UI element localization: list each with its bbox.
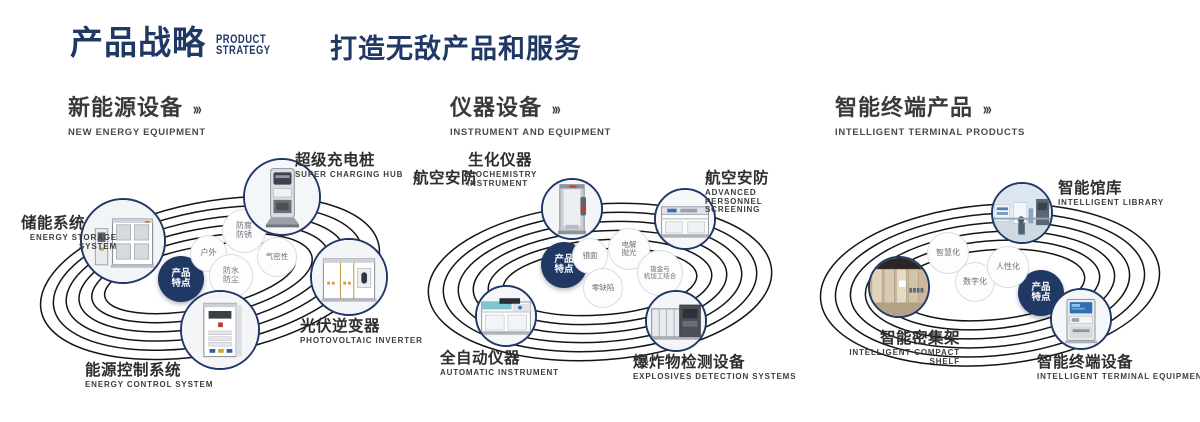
label-cn: 全自动仪器 [440,350,559,366]
inverter-cabinet-icon [312,240,386,314]
label-cn: 爆炸物检测设备 [633,354,796,370]
chevron-right-icon: ››› [552,99,559,119]
section-title-cn: 仪器设备 [450,98,542,120]
label-cn: 航空安防 [705,170,797,186]
feature-label: 零缺陷 [592,284,615,292]
feature-label: 气密性 [266,253,289,261]
cluster-intelligent-terminal: 产品 特点 智慧化 数字化 人性化 [800,150,1200,415]
feature-bubble-humanized: 人性化 [987,246,1029,288]
section-title-cn: 智能终端产品 [835,98,973,120]
label-en: INTELLIGENT COMPACT SHELF [820,349,960,366]
node-automatic-instrument[interactable] [475,285,537,347]
cluster-new-energy: 产品 特点 户外 防腐 防锈 防水 防尘 气密性 [15,150,415,415]
core-line2: 特点 [1031,293,1050,303]
terminal-kiosk-icon [1052,290,1110,348]
label-energy-storage: 储能系统 ENERGY STORAGE SYSTEM [7,215,85,251]
control-cabinet-icon [182,292,258,368]
label-en: EXPLOSIVES DETECTION SYSTEMS [633,373,796,381]
section-title-instrument: 仪器设备››› INSTRUMENT AND EQUIPMENT [450,98,611,138]
headline: 打造无敌产品和服务 [330,36,582,63]
poster-canvas: 产品战略 PRODUCT STRATEGY 打造无敌产品和服务 新能源设备›››… [0,0,1200,422]
label-cn: 储能系统 [7,215,85,231]
feature-label: 人性化 [996,263,1020,272]
label-energy-control-system: 能源控制系统 ENERGY CONTROL SYSTEM [85,362,213,390]
label-en: INTELLIGENT LIBRARY [1058,199,1164,207]
label-cn: 生化仪器 [468,152,532,168]
label-biochemistry-instrument: 生化仪器 BIOCHEMISTRY INSTRUMENT [468,152,532,188]
feature-bubble-airtight: 气密性 [257,237,297,277]
feature-label: 户外 [201,249,217,258]
brand-title-en: PRODUCT STRATEGY [216,35,271,57]
section-title-cn: 新能源设备 [68,98,183,120]
node-intelligent-library[interactable] [991,182,1053,244]
label-super-charging-hub: 超级充电桩 SUPER CHARGING HUB [295,152,403,180]
node-intelligent-terminal-equipment[interactable] [1050,288,1112,350]
node-intelligent-compact-shelf[interactable] [868,256,930,318]
library-room-icon [993,184,1051,242]
feature-label: 智慧化 [936,249,960,258]
brand-title-cn: 产品战略 [70,26,206,59]
feature-bubble-zero-defect: 零缺陷 [583,268,623,308]
compact-shelf-icon [870,258,928,316]
label-en: INTELLIGENT TERMINAL EQUIPMENT [1037,373,1200,381]
label-en: AUTOMATIC INSTRUMENT [440,369,559,377]
label-en: ENERGY STORAGE SYSTEM [7,234,117,251]
feature-label: 数字化 [963,278,987,287]
label-intelligent-library: 智能馆库 INTELLIGENT LIBRARY [1058,180,1164,208]
auto-analyzer-icon [477,287,535,345]
label-intelligent-terminal-equipment: 智能终端设备 INTELLIGENT TERMINAL EQUIPMENT [1037,354,1200,382]
cluster-instrument: 产品 特点 镜面 电解 抛光 零缺陷 钣金与 机加工结合 航空安防 [405,150,805,415]
brand-header: 产品战略 PRODUCT STRATEGY [70,26,283,59]
label-explosives-detection: 爆炸物检测设备 EXPLOSIVES DETECTION SYSTEMS [633,354,796,382]
core-line2: 特点 [554,265,573,275]
label-cn: 智能密集架 [820,330,960,346]
label-automatic-instrument: 全自动仪器 AUTOMATIC INSTRUMENT [440,350,559,378]
feature-label: 镜面 [583,252,598,260]
chevron-right-icon: ››› [983,99,990,119]
feature-label-line2: 机加工结合 [644,273,677,280]
section-title-en: INSTRUMENT AND EQUIPMENT [450,127,611,138]
node-energy-control-system[interactable] [180,290,260,370]
security-scanner-icon [543,180,601,238]
feature-label-line2: 抛光 [622,249,637,257]
section-title-intelligent-terminal: 智能终端产品››› INTELLIGENT TERMINAL PRODUCTS [835,98,1025,138]
chevron-right-icon: ››› [193,99,200,119]
label-intelligent-compact-shelf: 智能密集架 INTELLIGENT COMPACT SHELF [820,330,960,366]
label-en: ADVANCED PERSONNEL SCREENING [705,189,797,214]
section-title-en: INTELLIGENT TERMINAL PRODUCTS [835,127,1025,138]
feature-label-line2: 防尘 [223,276,239,285]
label-en: BIOCHEMISTRY INSTRUMENT [466,171,528,188]
node-explosives-detection[interactable] [645,290,707,352]
node-biochemistry-instrument[interactable] [541,178,603,240]
brand-en-line2: STRATEGY [216,46,271,57]
label-cn: 能源控制系统 [85,362,213,378]
label-cn: 超级充电桩 [295,152,403,168]
label-cn: 智能馆库 [1058,180,1164,196]
label-en: SUPER CHARGING HUB [295,171,403,179]
label-cn: 智能终端设备 [1037,354,1200,370]
explosives-detector-icon [647,292,705,350]
node-photovoltaic-inverter[interactable] [310,238,388,316]
label-en: ENERGY CONTROL SYSTEM [85,381,213,389]
label-advanced-personnel-screening: 航空安防 ADVANCED PERSONNEL SCREENING [705,170,797,214]
section-title-new-energy: 新能源设备››› NEW ENERGY EQUIPMENT [68,98,206,138]
section-title-en: NEW ENERGY EQUIPMENT [68,127,206,138]
core-line2: 特点 [171,279,190,289]
